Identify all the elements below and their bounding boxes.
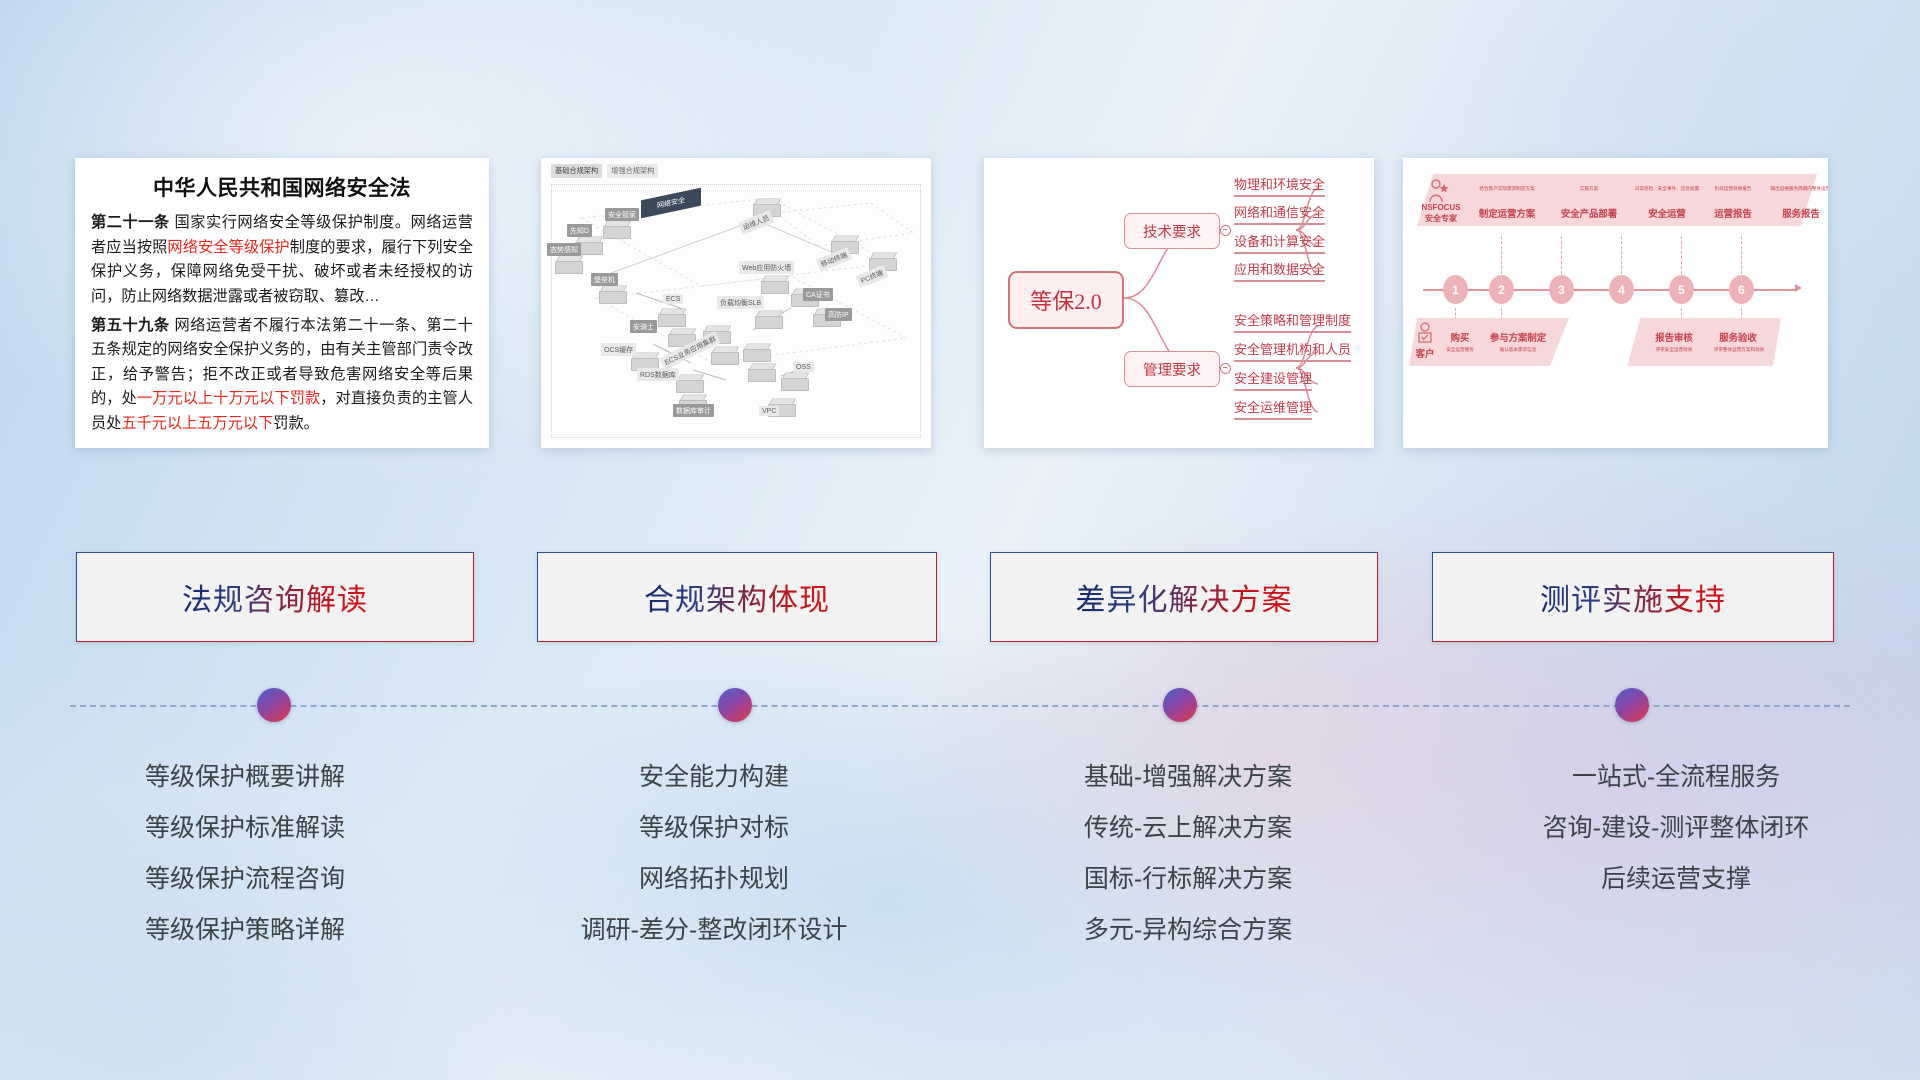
- list-item: 一站式-全流程服务: [1572, 752, 1780, 803]
- list-item: 多元-异构综合方案: [1084, 905, 1292, 956]
- list-item: 等级保护概要讲解: [145, 752, 345, 803]
- list-item: 等级保护流程咨询: [145, 854, 345, 905]
- section-items-2: 安全能力构建 等级保护对标 网络拓扑规划 调研-差分-整改闭环设计: [474, 752, 954, 1032]
- timeline-marker-3[interactable]: [1163, 688, 1197, 722]
- list-item: 等级保护对标: [639, 803, 789, 854]
- timeline-marker-4[interactable]: [1615, 688, 1649, 722]
- timeline-dashed-line: [70, 705, 1850, 707]
- timeline-marker-1[interactable]: [257, 688, 291, 722]
- list-item: 调研-差分-整改闭环设计: [581, 905, 848, 956]
- list-item: 安全能力构建: [639, 752, 789, 803]
- timeline-marker-2[interactable]: [718, 688, 752, 722]
- section-items-3: 基础-增强解决方案 传统-云上解决方案 国标-行标解决方案 多元-异构综合方案: [948, 752, 1428, 1032]
- list-item: 国标-行标解决方案: [1084, 854, 1292, 905]
- list-item: 网络拓扑规划: [639, 854, 789, 905]
- list-item: 传统-云上解决方案: [1084, 803, 1292, 854]
- list-item: 咨询-建设-测评整体闭环: [1543, 803, 1810, 854]
- section-item-columns: 等级保护概要讲解 等级保护标准解读 等级保护流程咨询 等级保护策略详解 安全能力…: [0, 752, 1920, 1032]
- list-item: 等级保护策略详解: [145, 905, 345, 956]
- list-item: 基础-增强解决方案: [1084, 752, 1292, 803]
- section-items-1: 等级保护概要讲解 等级保护标准解读 等级保护流程咨询 等级保护策略详解: [5, 752, 485, 1032]
- section-items-4: 一站式-全流程服务 咨询-建设-测评整体闭环 后续运营支撑: [1436, 752, 1916, 1032]
- list-item: 等级保护标准解读: [145, 803, 345, 854]
- list-item: 后续运营支撑: [1601, 854, 1751, 905]
